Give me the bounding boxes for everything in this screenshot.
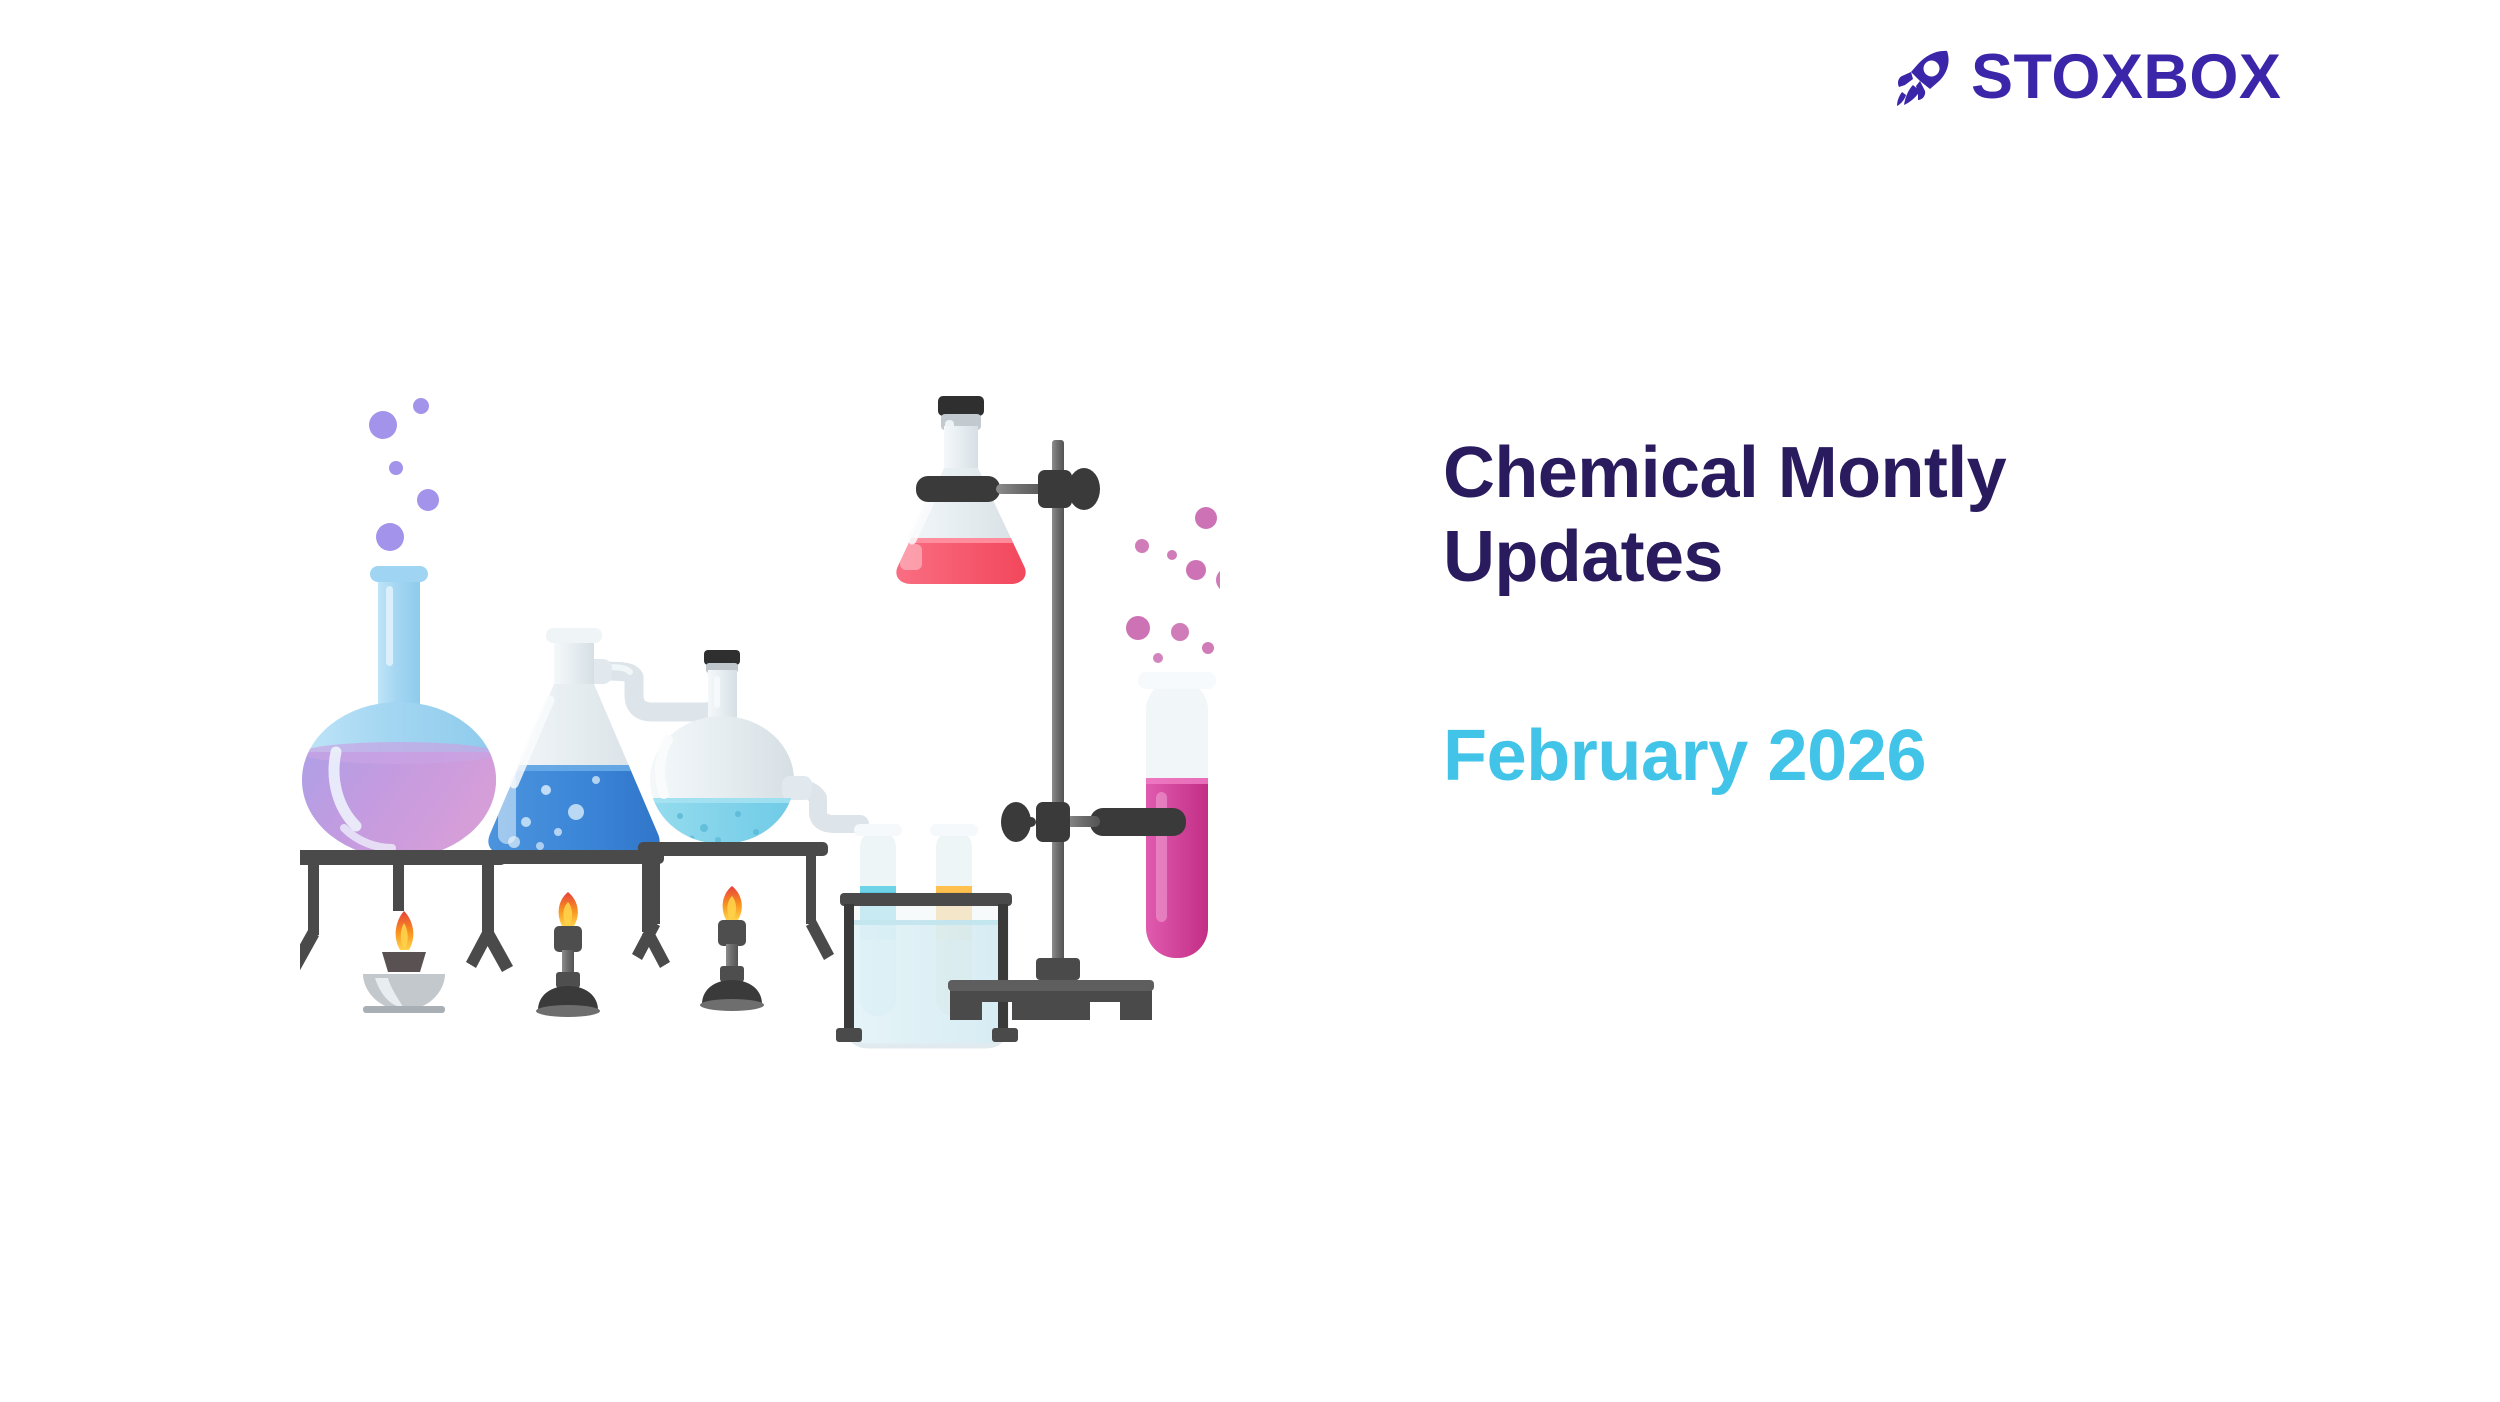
date-subtitle: February 2026 [1443,599,2343,796]
rocket-icon [1893,45,1957,109]
brand-wordmark: STOXBOX [1971,46,2281,109]
page-title: Chemical Montly Updates [1443,432,2083,599]
station-beaker-water-bath [836,824,1020,1050]
station-purple-flask [300,398,513,1013]
slide-canvas: STOXBOX Chemical Montly Updates February… [0,0,2500,1402]
headline-block: Chemical Montly Updates February 2026 [1443,432,2343,796]
erlenmeyer-flask-red [885,396,1100,594]
alcohol-burner [363,911,445,1013]
bunsen-burner-2 [700,886,764,1011]
test-tube-magenta [1001,672,1216,968]
chemistry-lab-illustration [300,380,1220,1060]
bunsen-burner-1 [536,892,600,1017]
magenta-bubbles-group [1126,507,1220,664]
purple-bubbles-group [369,398,439,551]
brand-logo[interactable]: STOXBOX [1893,45,2281,109]
